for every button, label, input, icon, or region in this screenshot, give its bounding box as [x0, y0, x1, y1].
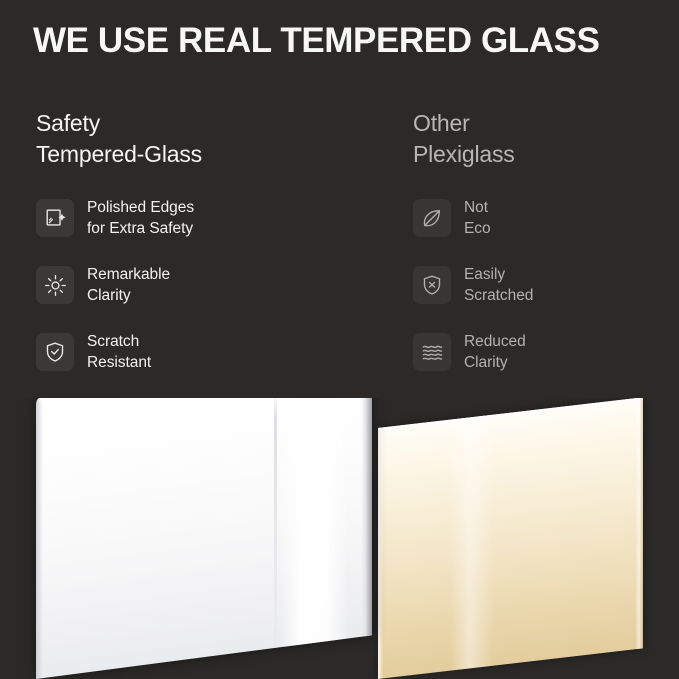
column-plexiglass: Other Plexiglass Not Eco [413, 108, 673, 397]
feature-line2: for Extra Safety [87, 218, 194, 239]
product-photo [0, 398, 679, 679]
feature-line2: Eco [464, 218, 491, 239]
tempered-glass-panel-reflection [274, 398, 277, 648]
feature-line2: Scratched [464, 285, 533, 306]
feature-label-scratch-resistant: Scratch Resistant [87, 331, 151, 373]
feature-line2: Clarity [87, 285, 170, 306]
column-heading-plexiglass: Other Plexiglass [413, 108, 673, 170]
page-title: WE USE REAL TEMPERED GLASS [33, 20, 653, 62]
feature-label-polished-edges: Polished Edges for Extra Safety [87, 197, 194, 239]
feature-line1: Easily [464, 266, 505, 283]
feature-label-not-eco: Not Eco [464, 197, 491, 239]
plexiglass-panel-edge [378, 398, 643, 432]
shield-check-icon [36, 333, 74, 371]
leaf-crossed-out-icon [413, 199, 451, 237]
feature-label-easily-scratched: Easily Scratched [464, 264, 533, 306]
column-heading-line2: Plexiglass [413, 139, 673, 170]
column-tempered-glass: Safety Tempered-Glass Polished Edges for… [36, 108, 386, 397]
feature-scratch-resistant: Scratch Resistant [36, 330, 386, 374]
sun-brightness-icon [36, 266, 74, 304]
feature-line2: Resistant [87, 352, 151, 373]
column-heading-line1: Safety [36, 110, 100, 136]
feature-line2: Clarity [464, 352, 526, 373]
feature-line1: Not [464, 199, 488, 216]
column-heading-tempered-glass: Safety Tempered-Glass [36, 108, 386, 170]
feature-polished-edges: Polished Edges for Extra Safety [36, 196, 386, 240]
tempered-glass-panel-sheen [280, 398, 348, 647]
feature-line1: Remarkable [87, 266, 170, 283]
feature-label-reduced-clarity: Reduced Clarity [464, 331, 526, 373]
tempered-glass-panel-edge [36, 398, 372, 403]
plexiglass-panel [378, 398, 643, 679]
column-heading-line1: Other [413, 110, 470, 136]
column-heading-line2: Tempered-Glass [36, 139, 386, 170]
feature-remarkable-clarity: Remarkable Clarity [36, 263, 386, 307]
feature-line1: Polished Edges [87, 199, 194, 216]
wavy-lines-icon [413, 333, 451, 371]
polished-edge-sparkle-icon [36, 199, 74, 237]
shield-x-icon [413, 266, 451, 304]
plexiglass-panel-sheen [450, 415, 494, 671]
feature-label-remarkable-clarity: Remarkable Clarity [87, 264, 170, 306]
feature-reduced-clarity: Reduced Clarity [413, 330, 673, 374]
product-comparison-poster: WE USE REAL TEMPERED GLASS Safety Temper… [0, 0, 679, 679]
feature-not-eco: Not Eco [413, 196, 673, 240]
feature-line1: Scratch [87, 333, 139, 350]
feature-easily-scratched: Easily Scratched [413, 263, 673, 307]
feature-line1: Reduced [464, 333, 526, 350]
tempered-glass-panel [36, 398, 372, 679]
